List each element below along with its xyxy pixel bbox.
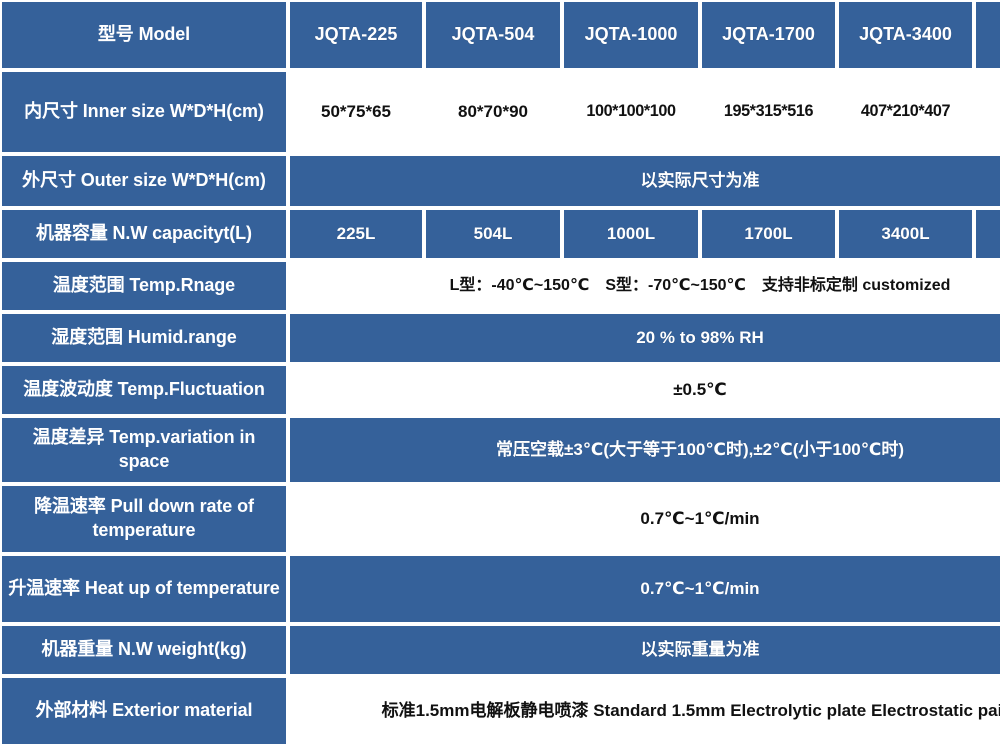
row-label-model: 型号 Model bbox=[0, 0, 288, 70]
table-row-exterior-material: 外部材料 Exterior material 标准1.5mm电解板静电喷漆 St… bbox=[0, 676, 1000, 746]
pull-down-rate-value: 0.7℃~1℃/min bbox=[288, 484, 1000, 554]
inner-size-cell-1: 50*75*65 bbox=[288, 70, 424, 154]
model-cell-5: JQTA-3400 bbox=[837, 0, 974, 70]
row-label-heat-up-rate: 升温速率 Heat up of temperature bbox=[0, 554, 288, 624]
row-label-capacity: 机器容量 N.W capacityt(L) bbox=[0, 208, 288, 260]
inner-size-cell-3: 100*100*100 bbox=[562, 70, 700, 154]
model-cell-1: JQTA-225 bbox=[288, 0, 424, 70]
specification-table: 型号 Model JQTA-225 JQTA-504 JQTA-1000 JQT… bbox=[0, 0, 1000, 746]
table-row-pull-down-rate: 降温速率 Pull down rate of temperature 0.7℃~… bbox=[0, 484, 1000, 554]
table-row-humidity-range: 湿度范围 Humid.range 20 % to 98% RH bbox=[0, 312, 1000, 364]
temp-fluctuation-value: ±0.5℃ bbox=[288, 364, 1000, 416]
inner-size-cell-4: 195*315*516 bbox=[700, 70, 837, 154]
temp-range-value: L型：-40℃~150℃ S型：-70℃~150℃ 支持非标定制 customi… bbox=[288, 260, 1000, 312]
table-row-temp-range: 温度范围 Temp.Rnage L型：-40℃~150℃ S型：-70℃~150… bbox=[0, 260, 1000, 312]
row-label-inner-size: 内尺寸 Inner size W*D*H(cm) bbox=[0, 70, 288, 154]
row-label-temp-variation: 温度差异 Temp.variation in space bbox=[0, 416, 288, 484]
inner-size-cell-2: 80*70*90 bbox=[424, 70, 562, 154]
capacity-cell-6: 非标定制 bbox=[974, 208, 1000, 260]
exterior-material-value: 标准1.5mm电解板静电喷漆 Standard 1.5mm Electrolyt… bbox=[288, 676, 1000, 746]
model-cell-6: 非标定制 bbox=[974, 0, 1000, 70]
inner-size-cell-5: 407*210*407 bbox=[837, 70, 974, 154]
humidity-range-value: 20 % to 98% RH bbox=[288, 312, 1000, 364]
inner-size-cell-6: 非标定制 bbox=[974, 70, 1000, 154]
row-label-temp-fluctuation: 温度波动度 Temp.Fluctuation bbox=[0, 364, 288, 416]
model-cell-4: JQTA-1700 bbox=[700, 0, 837, 70]
outer-size-value: 以实际尺寸为准 bbox=[288, 154, 1000, 208]
table-row-temp-variation: 温度差异 Temp.variation in space 常压空载±3℃(大于等… bbox=[0, 416, 1000, 484]
table-row-capacity: 机器容量 N.W capacityt(L) 225L 504L 1000L 17… bbox=[0, 208, 1000, 260]
temp-variation-value: 常压空载±3℃(大于等于100℃时),±2℃(小于100℃时) bbox=[288, 416, 1000, 484]
table-row-temp-fluctuation: 温度波动度 Temp.Fluctuation ±0.5℃ bbox=[0, 364, 1000, 416]
specification-table-body: 型号 Model JQTA-225 JQTA-504 JQTA-1000 JQT… bbox=[0, 0, 1000, 746]
row-label-humidity-range: 湿度范围 Humid.range bbox=[0, 312, 288, 364]
heat-up-rate-value: 0.7℃~1℃/min bbox=[288, 554, 1000, 624]
capacity-cell-1: 225L bbox=[288, 208, 424, 260]
model-cell-2: JQTA-504 bbox=[424, 0, 562, 70]
model-cell-3: JQTA-1000 bbox=[562, 0, 700, 70]
row-label-pull-down-rate: 降温速率 Pull down rate of temperature bbox=[0, 484, 288, 554]
table-row-weight: 机器重量 N.W weight(kg) 以实际重量为准 bbox=[0, 624, 1000, 676]
capacity-cell-2: 504L bbox=[424, 208, 562, 260]
table-row-model: 型号 Model JQTA-225 JQTA-504 JQTA-1000 JQT… bbox=[0, 0, 1000, 70]
table-row-heat-up-rate: 升温速率 Heat up of temperature 0.7℃~1℃/min bbox=[0, 554, 1000, 624]
row-label-temp-range: 温度范围 Temp.Rnage bbox=[0, 260, 288, 312]
table-row-outer-size: 外尺寸 Outer size W*D*H(cm) 以实际尺寸为准 bbox=[0, 154, 1000, 208]
row-label-exterior-material: 外部材料 Exterior material bbox=[0, 676, 288, 746]
table-row-inner-size: 内尺寸 Inner size W*D*H(cm) 50*75*65 80*70*… bbox=[0, 70, 1000, 154]
row-label-outer-size: 外尺寸 Outer size W*D*H(cm) bbox=[0, 154, 288, 208]
row-label-weight: 机器重量 N.W weight(kg) bbox=[0, 624, 288, 676]
capacity-cell-5: 3400L bbox=[837, 208, 974, 260]
weight-value: 以实际重量为准 bbox=[288, 624, 1000, 676]
capacity-cell-4: 1700L bbox=[700, 208, 837, 260]
capacity-cell-3: 1000L bbox=[562, 208, 700, 260]
